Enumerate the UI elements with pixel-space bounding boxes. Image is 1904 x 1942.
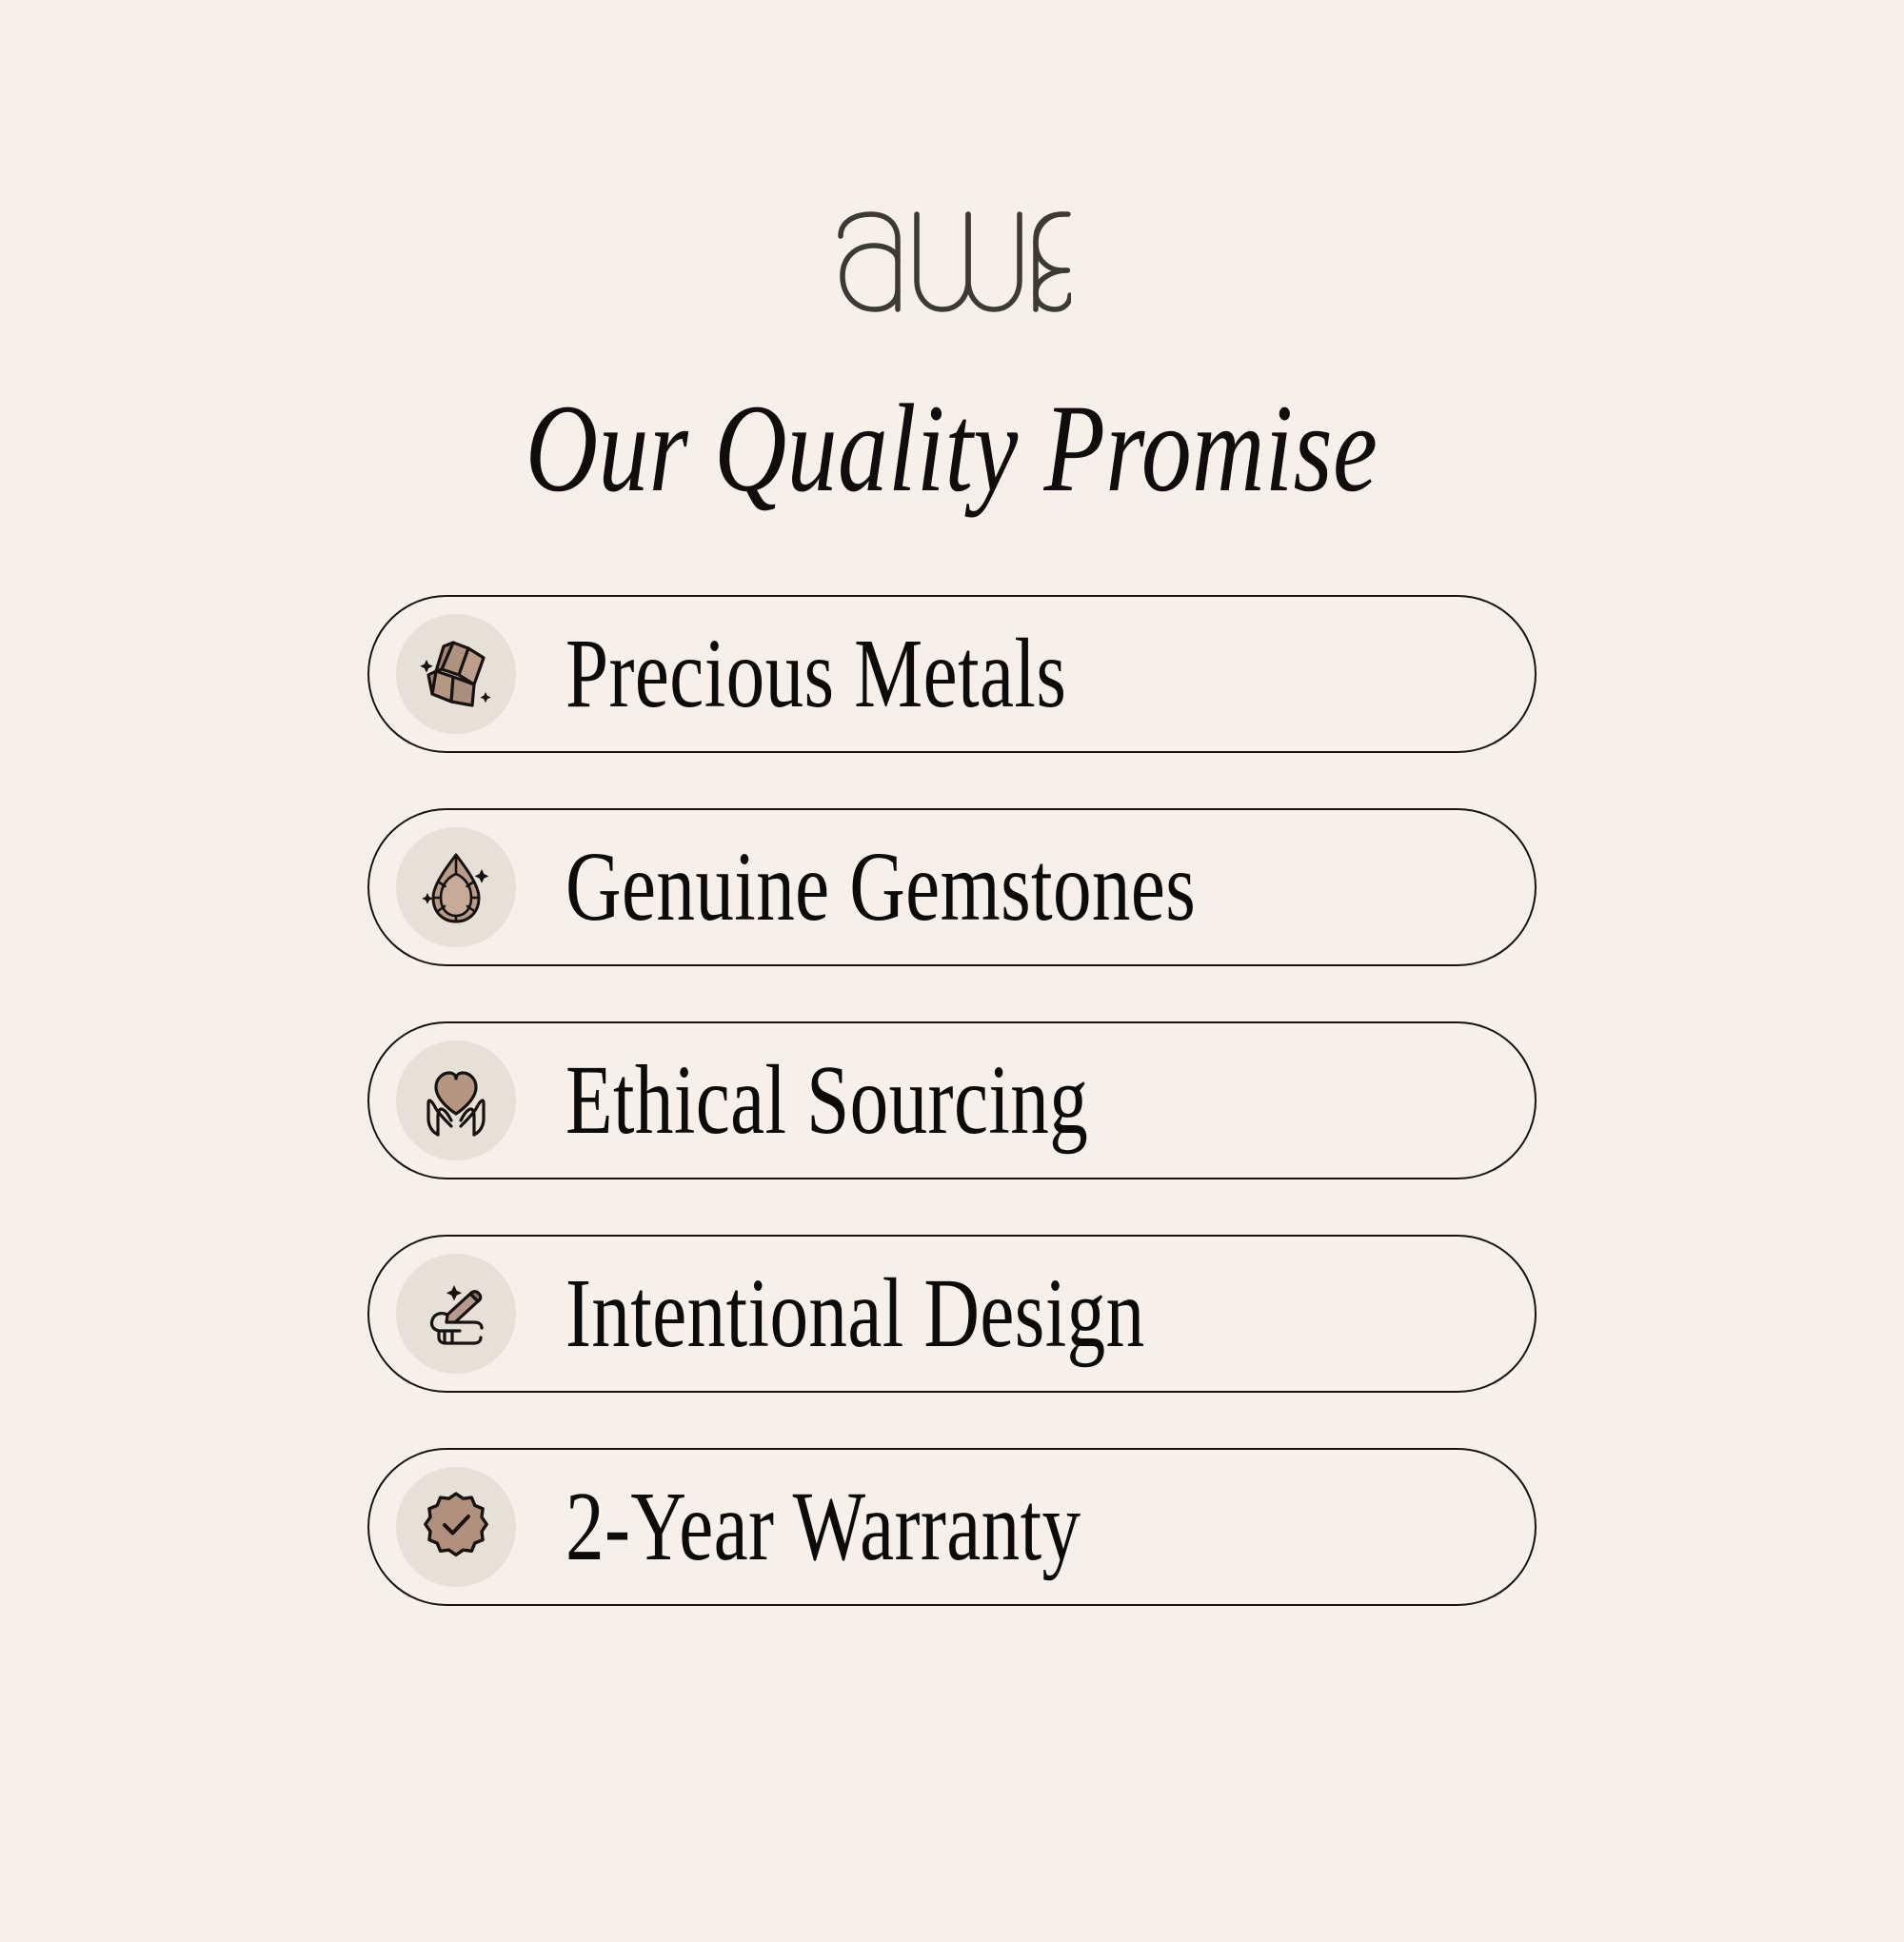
page-title: Our Quality Promise bbox=[526, 381, 1378, 517]
quality-promise-page: Our Quality Promise bbox=[0, 0, 1904, 1942]
promise-row-genuine-gemstones[interactable]: Genuine Gemstones bbox=[367, 808, 1537, 966]
awe-wordmark-icon bbox=[833, 211, 1071, 312]
hands-heart-icon bbox=[415, 1060, 497, 1141]
promise-icon-circle bbox=[396, 1467, 516, 1587]
hand-pencil-icon bbox=[415, 1273, 497, 1355]
promise-icon-circle bbox=[396, 1040, 516, 1160]
promise-list: Precious Metals bbox=[367, 595, 1537, 1606]
promise-label: Genuine Gemstones bbox=[565, 838, 1196, 937]
promise-icon-circle bbox=[396, 827, 516, 947]
promise-label: Precious Metals bbox=[565, 624, 1066, 723]
promise-icon-circle bbox=[396, 614, 516, 734]
brand-logo bbox=[833, 211, 1071, 312]
promise-row-warranty[interactable]: 2-Year Warranty bbox=[367, 1448, 1537, 1606]
sparkle-decoration bbox=[446, 1285, 462, 1300]
gold-bars-icon bbox=[415, 633, 497, 715]
badge-check-icon bbox=[415, 1486, 497, 1568]
promise-icon-circle bbox=[396, 1254, 516, 1374]
gemstone-icon bbox=[415, 846, 497, 928]
promise-label: Intentional Design bbox=[565, 1264, 1145, 1363]
promise-label: 2-Year Warranty bbox=[565, 1477, 1081, 1576]
promise-label: Ethical Sourcing bbox=[565, 1051, 1088, 1150]
promise-row-ethical-sourcing[interactable]: Ethical Sourcing bbox=[367, 1021, 1537, 1179]
promise-row-precious-metals[interactable]: Precious Metals bbox=[367, 595, 1537, 753]
promise-row-intentional-design[interactable]: Intentional Design bbox=[367, 1235, 1537, 1393]
